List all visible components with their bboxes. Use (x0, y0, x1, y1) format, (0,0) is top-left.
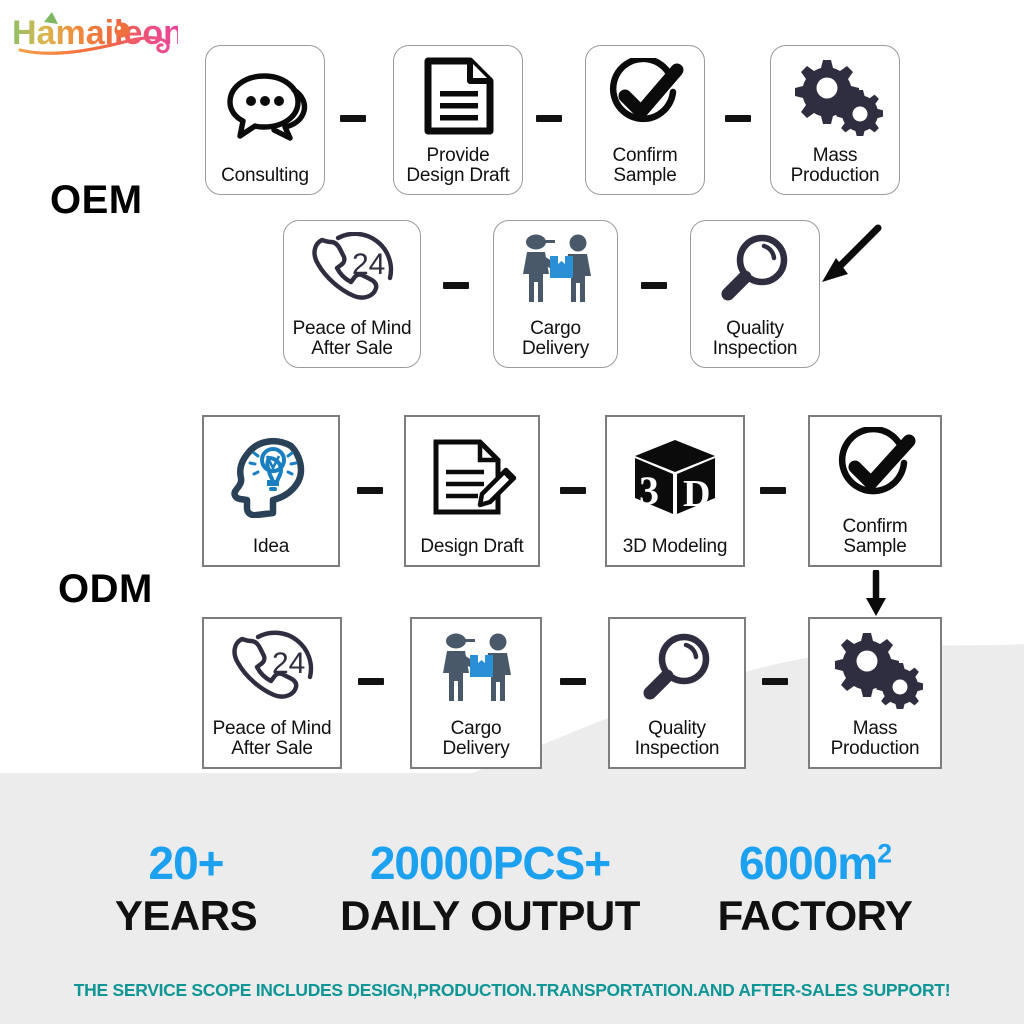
chat-bubbles-icon (206, 46, 324, 166)
node-cargo-delivery-oem[interactable]: Cargo Delivery (493, 220, 618, 368)
connector-dash (357, 487, 383, 494)
node-label: Quality Inspection (691, 319, 819, 367)
node-label: Mass Production (810, 719, 940, 767)
svg-text:3: 3 (639, 468, 659, 513)
stat-caption: DAILY OUTPUT (320, 892, 660, 940)
magnifier-icon (691, 221, 819, 319)
connector-dash (536, 115, 562, 122)
gears-icon (771, 46, 899, 146)
arrow-down-icon (862, 570, 890, 618)
stat-factory: 6000m2 FACTORY (690, 840, 940, 940)
node-confirm-sample-oem[interactable]: Confirm Sample (585, 45, 705, 195)
connector-dash (641, 282, 667, 289)
cargo-delivery-icon (412, 619, 540, 719)
stat-number-wrap: 6000m2 (690, 840, 940, 886)
connector-dash (443, 282, 469, 289)
node-provide-design-draft[interactable]: Provide Design Draft (393, 45, 523, 195)
node-label: Peace of Mind After Sale (284, 319, 420, 367)
node-mass-production-odm[interactable]: Mass Production (808, 617, 942, 769)
node-quality-inspection-oem[interactable]: Quality Inspection (690, 220, 820, 368)
document-icon (394, 46, 522, 146)
connector-dash (760, 487, 786, 494)
node-3d-modeling[interactable]: 3 D 3D Modeling (605, 415, 745, 567)
section-label-odm: ODM (58, 567, 153, 612)
3d-cube-icon: 3 D (607, 417, 743, 537)
connector-dash (725, 115, 751, 122)
magnifier-icon (610, 619, 744, 719)
connector-dash (560, 487, 586, 494)
node-label: Peace of Mind After Sale (204, 719, 340, 767)
node-label: Cargo Delivery (412, 719, 540, 767)
node-mass-production-oem[interactable]: Mass Production (770, 45, 900, 195)
node-peace-of-mind-odm[interactable]: 24 Peace of Mind After Sale (202, 617, 342, 769)
diagonal-arrow-down-left-icon (812, 222, 884, 290)
node-label: Confirm Sample (810, 517, 940, 565)
phone-24h-icon: 24 (284, 221, 420, 319)
node-label: Provide Design Draft (394, 146, 522, 194)
stat-years: 20+ YEARS (86, 840, 286, 940)
check-circle-icon (586, 46, 704, 146)
node-confirm-sample-odm[interactable]: Confirm Sample (808, 415, 942, 567)
node-design-draft[interactable]: Design Draft (404, 415, 540, 567)
document-pencil-icon (406, 417, 538, 537)
stat-caption: YEARS (86, 892, 286, 940)
connector-dash (340, 115, 366, 122)
svg-text:24: 24 (272, 647, 305, 680)
brand-logo: Hamaileon (8, 8, 178, 60)
connector-dash (560, 678, 586, 685)
cargo-delivery-icon (494, 221, 617, 319)
tagline: THE SERVICE SCOPE INCLUDES DESIGN,PRODUC… (0, 980, 1024, 1001)
stat-number: 20000PCS+ (320, 840, 660, 886)
node-cargo-delivery-odm[interactable]: Cargo Delivery (410, 617, 542, 769)
svg-text:Hamaileon: Hamaileon (12, 14, 178, 52)
stat-daily-output: 20000PCS+ DAILY OUTPUT (320, 840, 660, 940)
head-lightbulb-icon (204, 417, 338, 537)
connector-dash (762, 678, 788, 685)
phone-24h-icon: 24 (204, 619, 340, 719)
node-quality-inspection-odm[interactable]: Quality Inspection (608, 617, 746, 769)
node-idea[interactable]: Idea (202, 415, 340, 567)
node-label: Confirm Sample (586, 146, 704, 194)
connector-dash (358, 678, 384, 685)
node-label: Mass Production (771, 146, 899, 194)
infographic-root: Hamaileon OEM Consulting (0, 0, 1024, 1024)
node-label: Design Draft (406, 537, 538, 565)
stat-superscript: 2 (877, 839, 891, 869)
node-peace-of-mind-oem[interactable]: 24 Peace of Mind After Sale (283, 220, 421, 368)
section-label-oem: OEM (50, 178, 143, 223)
node-consulting[interactable]: Consulting (205, 45, 325, 195)
node-label: Idea (204, 537, 338, 565)
svg-text:24: 24 (352, 248, 385, 281)
node-label: Consulting (206, 166, 324, 194)
node-label: Cargo Delivery (494, 319, 617, 367)
node-label: Quality Inspection (610, 719, 744, 767)
svg-text:D: D (683, 473, 710, 515)
stat-caption: FACTORY (690, 892, 940, 940)
stat-number: 20+ (86, 840, 286, 886)
stat-number: 6000m (739, 837, 877, 889)
gears-icon (810, 619, 940, 719)
check-circle-icon (810, 417, 940, 517)
node-label: 3D Modeling (607, 537, 743, 565)
